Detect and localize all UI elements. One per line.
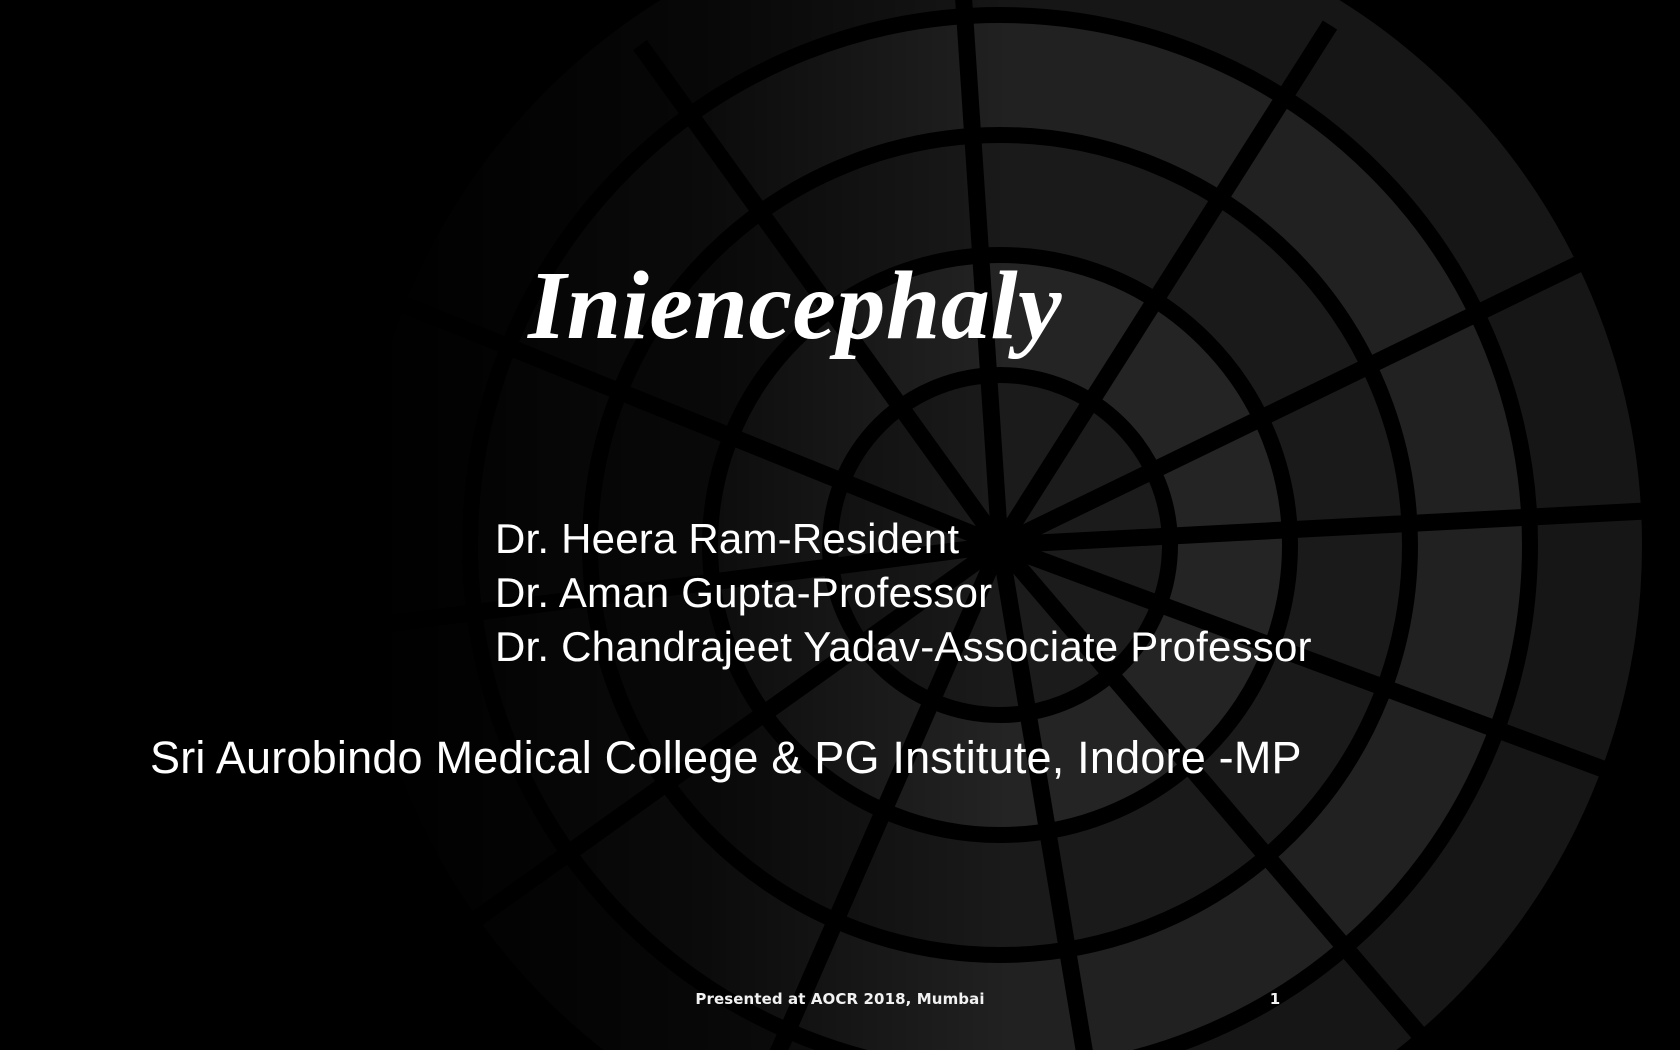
slide-title-text: Iniencephaly	[528, 255, 1062, 358]
author-list: Dr. Heera Ram-Resident Dr. Aman Gupta-Pr…	[495, 512, 1655, 674]
author-line: Dr. Chandrajeet Yadav-Associate Professo…	[495, 620, 1655, 674]
institution-text: Sri Aurobindo Medical College & PG Insti…	[150, 730, 1630, 786]
slide-title: Iniencephaly	[0, 255, 1680, 358]
author-line: Dr. Heera Ram-Resident	[495, 512, 1655, 566]
footer-note: Presented at AOCR 2018, Mumbai	[0, 988, 1680, 1010]
presentation-slide: Iniencephaly Dr. Heera Ram-Resident Dr. …	[0, 0, 1680, 1050]
institution-block: Sri Aurobindo Medical College & PG Insti…	[150, 730, 1630, 786]
slide-footer: Presented at AOCR 2018, Mumbai 1	[0, 988, 1680, 1018]
slide-page-number: 1	[1240, 988, 1310, 1010]
author-line: Dr. Aman Gupta-Professor	[495, 566, 1655, 620]
